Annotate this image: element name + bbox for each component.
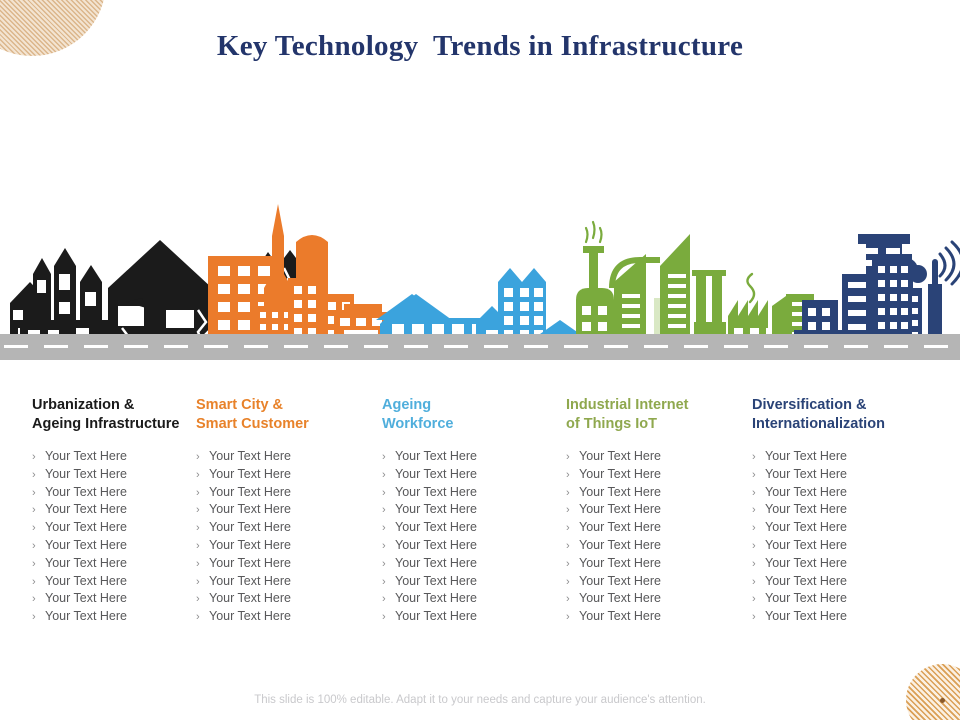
- list-item[interactable]: ›Your Text Here: [32, 519, 196, 537]
- wifi-signal-icon: [940, 242, 960, 284]
- city-skyline-illustration: [0, 170, 960, 370]
- column-heading: Urbanization & Ageing Infrastructure: [32, 396, 196, 434]
- list-item[interactable]: ›Your Text Here: [382, 519, 566, 537]
- list-item[interactable]: ›Your Text Here: [566, 519, 752, 537]
- list-item-label: Your Text Here: [579, 484, 661, 501]
- list-item-label: Your Text Here: [765, 448, 847, 465]
- list-item[interactable]: ›Your Text Here: [566, 466, 752, 484]
- list-item[interactable]: ›Your Text Here: [752, 519, 960, 537]
- list-item-label: Your Text Here: [45, 590, 127, 607]
- chevron-right-icon: ›: [32, 609, 45, 626]
- chevron-right-icon: ›: [32, 485, 45, 502]
- list-item[interactable]: ›Your Text Here: [752, 484, 960, 502]
- chevron-right-icon: ›: [566, 485, 579, 502]
- list-item[interactable]: ›Your Text Here: [196, 484, 382, 502]
- list-item[interactable]: ›Your Text Here: [196, 448, 382, 466]
- list-item-label: Your Text Here: [45, 448, 127, 465]
- list-item-label: Your Text Here: [579, 573, 661, 590]
- chevron-right-icon: ›: [566, 449, 579, 466]
- list-item-label: Your Text Here: [209, 484, 291, 501]
- bullet-list: ›Your Text Here ›Your Text Here ›Your Te…: [196, 448, 382, 626]
- list-item-label: Your Text Here: [765, 573, 847, 590]
- list-item-label: Your Text Here: [579, 537, 661, 554]
- list-item[interactable]: ›Your Text Here: [196, 590, 382, 608]
- list-item[interactable]: ›Your Text Here: [382, 484, 566, 502]
- column-heading: Ageing Workforce: [382, 396, 566, 434]
- chevron-right-icon: ›: [752, 609, 765, 626]
- list-item[interactable]: ›Your Text Here: [32, 573, 196, 591]
- column-heading: Industrial Internet of Things IoT: [566, 396, 752, 434]
- list-item[interactable]: ›Your Text Here: [752, 448, 960, 466]
- chevron-right-icon: ›: [382, 467, 395, 484]
- chevron-right-icon: ›: [752, 502, 765, 519]
- list-item[interactable]: ›Your Text Here: [566, 448, 752, 466]
- list-item[interactable]: ›Your Text Here: [32, 484, 196, 502]
- list-item[interactable]: ›Your Text Here: [196, 501, 382, 519]
- list-item-label: Your Text Here: [395, 501, 477, 518]
- list-item[interactable]: ›Your Text Here: [32, 537, 196, 555]
- chevron-right-icon: ›: [196, 502, 209, 519]
- column-heading: Smart City & Smart Customer: [196, 396, 382, 434]
- chevron-right-icon: ›: [566, 591, 579, 608]
- chevron-right-icon: ›: [196, 485, 209, 502]
- bullet-list: ›Your Text Here ›Your Text Here ›Your Te…: [752, 448, 960, 626]
- chevron-right-icon: ›: [566, 467, 579, 484]
- list-item-label: Your Text Here: [395, 537, 477, 554]
- chevron-right-icon: ›: [382, 609, 395, 626]
- slide-canvas: Key Technology Trends in Infrastructure: [0, 0, 960, 720]
- list-item[interactable]: ›Your Text Here: [196, 555, 382, 573]
- chevron-right-icon: ›: [196, 538, 209, 555]
- list-item[interactable]: ›Your Text Here: [566, 608, 752, 626]
- list-item[interactable]: ›Your Text Here: [382, 537, 566, 555]
- list-item-label: Your Text Here: [579, 608, 661, 625]
- list-item[interactable]: ›Your Text Here: [566, 537, 752, 555]
- list-item[interactable]: ›Your Text Here: [752, 573, 960, 591]
- trend-column-ageing-workforce: Ageing Workforce ›Your Text Here ›Your T…: [382, 396, 566, 626]
- chevron-right-icon: ›: [382, 556, 395, 573]
- chevron-right-icon: ›: [196, 591, 209, 608]
- chevron-right-icon: ›: [382, 449, 395, 466]
- chevron-right-icon: ›: [196, 467, 209, 484]
- chevron-right-icon: ›: [752, 449, 765, 466]
- list-item-label: Your Text Here: [45, 501, 127, 518]
- chevron-right-icon: ›: [752, 556, 765, 573]
- list-item[interactable]: ›Your Text Here: [566, 501, 752, 519]
- chevron-right-icon: ›: [32, 449, 45, 466]
- chevron-right-icon: ›: [32, 556, 45, 573]
- chevron-right-icon: ›: [196, 574, 209, 591]
- list-item-label: Your Text Here: [395, 573, 477, 590]
- list-item-label: Your Text Here: [45, 537, 127, 554]
- page-title: Key Technology Trends in Infrastructure: [0, 30, 960, 63]
- chevron-right-icon: ›: [196, 609, 209, 626]
- list-item[interactable]: ›Your Text Here: [382, 608, 566, 626]
- list-item-label: Your Text Here: [395, 519, 477, 536]
- list-item[interactable]: ›Your Text Here: [32, 448, 196, 466]
- chevron-right-icon: ›: [382, 591, 395, 608]
- chevron-right-icon: ›: [752, 520, 765, 537]
- list-item[interactable]: ›Your Text Here: [32, 555, 196, 573]
- list-item[interactable]: ›Your Text Here: [382, 466, 566, 484]
- column-heading: Diversification & Internationalization: [752, 396, 960, 434]
- list-item[interactable]: ›Your Text Here: [32, 608, 196, 626]
- trend-column-iiot: Industrial Internet of Things IoT ›Your …: [566, 396, 752, 626]
- list-item-label: Your Text Here: [45, 573, 127, 590]
- list-item-label: Your Text Here: [765, 608, 847, 625]
- list-item-label: Your Text Here: [395, 590, 477, 607]
- list-item[interactable]: ›Your Text Here: [196, 573, 382, 591]
- list-item-label: Your Text Here: [395, 608, 477, 625]
- list-item-label: Your Text Here: [765, 466, 847, 483]
- bullet-list: ›Your Text Here ›Your Text Here ›Your Te…: [566, 448, 752, 626]
- list-item-label: Your Text Here: [579, 519, 661, 536]
- chevron-right-icon: ›: [196, 556, 209, 573]
- list-item[interactable]: ›Your Text Here: [752, 555, 960, 573]
- list-item[interactable]: ›Your Text Here: [32, 501, 196, 519]
- trend-column-smart-city: Smart City & Smart Customer ›Your Text H…: [196, 396, 382, 626]
- list-item-label: Your Text Here: [209, 466, 291, 483]
- chevron-right-icon: ›: [32, 502, 45, 519]
- list-item-label: Your Text Here: [209, 608, 291, 625]
- chevron-right-icon: ›: [752, 485, 765, 502]
- list-item-label: Your Text Here: [45, 484, 127, 501]
- road: [0, 334, 960, 360]
- trend-columns: Urbanization & Ageing Infrastructure ›Yo…: [0, 396, 960, 626]
- list-item-label: Your Text Here: [579, 555, 661, 572]
- list-item[interactable]: ›Your Text Here: [32, 466, 196, 484]
- list-item[interactable]: ›Your Text Here: [382, 501, 566, 519]
- trend-column-urbanization: Urbanization & Ageing Infrastructure ›Yo…: [0, 396, 196, 626]
- list-item-label: Your Text Here: [45, 519, 127, 536]
- editable-note: This slide is 100% editable. Adapt it to…: [0, 694, 960, 706]
- list-item[interactable]: ›Your Text Here: [566, 573, 752, 591]
- chevron-right-icon: ›: [752, 538, 765, 555]
- list-item-label: Your Text Here: [395, 484, 477, 501]
- list-item[interactable]: ›Your Text Here: [752, 590, 960, 608]
- chevron-right-icon: ›: [566, 609, 579, 626]
- list-item-label: Your Text Here: [209, 573, 291, 590]
- list-item[interactable]: ›Your Text Here: [752, 466, 960, 484]
- decorative-corner-bottom-right: [906, 664, 960, 720]
- chevron-right-icon: ›: [566, 502, 579, 519]
- chevron-right-icon: ›: [382, 538, 395, 555]
- chevron-right-icon: ›: [382, 520, 395, 537]
- chevron-right-icon: ›: [32, 520, 45, 537]
- list-item[interactable]: ›Your Text Here: [566, 555, 752, 573]
- list-item-label: Your Text Here: [45, 466, 127, 483]
- list-item-label: Your Text Here: [45, 608, 127, 625]
- list-item-label: Your Text Here: [209, 555, 291, 572]
- list-item-label: Your Text Here: [765, 555, 847, 572]
- bullet-list: ›Your Text Here ›Your Text Here ›Your Te…: [382, 448, 566, 626]
- list-item-label: Your Text Here: [765, 590, 847, 607]
- trend-column-diversification: Diversification & Internationalization ›…: [752, 396, 960, 626]
- list-item[interactable]: ›Your Text Here: [752, 608, 960, 626]
- list-item-label: Your Text Here: [209, 501, 291, 518]
- list-item-label: Your Text Here: [579, 466, 661, 483]
- list-item-label: Your Text Here: [209, 519, 291, 536]
- list-item[interactable]: ›Your Text Here: [196, 608, 382, 626]
- chevron-right-icon: ›: [382, 574, 395, 591]
- list-item-label: Your Text Here: [765, 484, 847, 501]
- list-item[interactable]: ›Your Text Here: [566, 590, 752, 608]
- chevron-right-icon: ›: [196, 520, 209, 537]
- chevron-right-icon: ›: [382, 502, 395, 519]
- list-item-label: Your Text Here: [45, 555, 127, 572]
- list-item-label: Your Text Here: [209, 590, 291, 607]
- chevron-right-icon: ›: [752, 467, 765, 484]
- list-item[interactable]: ›Your Text Here: [196, 519, 382, 537]
- list-item[interactable]: ›Your Text Here: [196, 537, 382, 555]
- chevron-right-icon: ›: [566, 556, 579, 573]
- list-item-label: Your Text Here: [765, 537, 847, 554]
- list-item-label: Your Text Here: [395, 466, 477, 483]
- list-item[interactable]: ›Your Text Here: [752, 501, 960, 519]
- list-item[interactable]: ›Your Text Here: [382, 590, 566, 608]
- list-item-label: Your Text Here: [209, 448, 291, 465]
- list-item-label: Your Text Here: [579, 448, 661, 465]
- chevron-right-icon: ›: [196, 449, 209, 466]
- chevron-right-icon: ›: [382, 485, 395, 502]
- chevron-right-icon: ›: [32, 574, 45, 591]
- list-item[interactable]: ›Your Text Here: [382, 573, 566, 591]
- chevron-right-icon: ›: [752, 574, 765, 591]
- list-item-label: Your Text Here: [765, 519, 847, 536]
- chevron-right-icon: ›: [32, 538, 45, 555]
- chevron-right-icon: ›: [566, 574, 579, 591]
- chevron-right-icon: ›: [566, 520, 579, 537]
- list-item[interactable]: ›Your Text Here: [32, 590, 196, 608]
- chevron-right-icon: ›: [752, 591, 765, 608]
- list-item-label: Your Text Here: [579, 590, 661, 607]
- list-item[interactable]: ›Your Text Here: [382, 448, 566, 466]
- list-item[interactable]: ›Your Text Here: [752, 537, 960, 555]
- chevron-right-icon: ›: [566, 538, 579, 555]
- chevron-right-icon: ›: [32, 467, 45, 484]
- list-item[interactable]: ›Your Text Here: [382, 555, 566, 573]
- orange-downtown-group: [208, 204, 392, 348]
- list-item-label: Your Text Here: [395, 448, 477, 465]
- list-item-label: Your Text Here: [209, 537, 291, 554]
- chevron-right-icon: ›: [32, 591, 45, 608]
- list-item-label: Your Text Here: [579, 501, 661, 518]
- list-item-label: Your Text Here: [395, 555, 477, 572]
- bullet-list: ›Your Text Here ›Your Text Here ›Your Te…: [32, 448, 196, 626]
- navy-smart-city-group: [794, 234, 960, 346]
- green-industrial-group: [576, 222, 814, 346]
- list-item-label: Your Text Here: [765, 501, 847, 518]
- list-item[interactable]: ›Your Text Here: [566, 484, 752, 502]
- list-item[interactable]: ›Your Text Here: [196, 466, 382, 484]
